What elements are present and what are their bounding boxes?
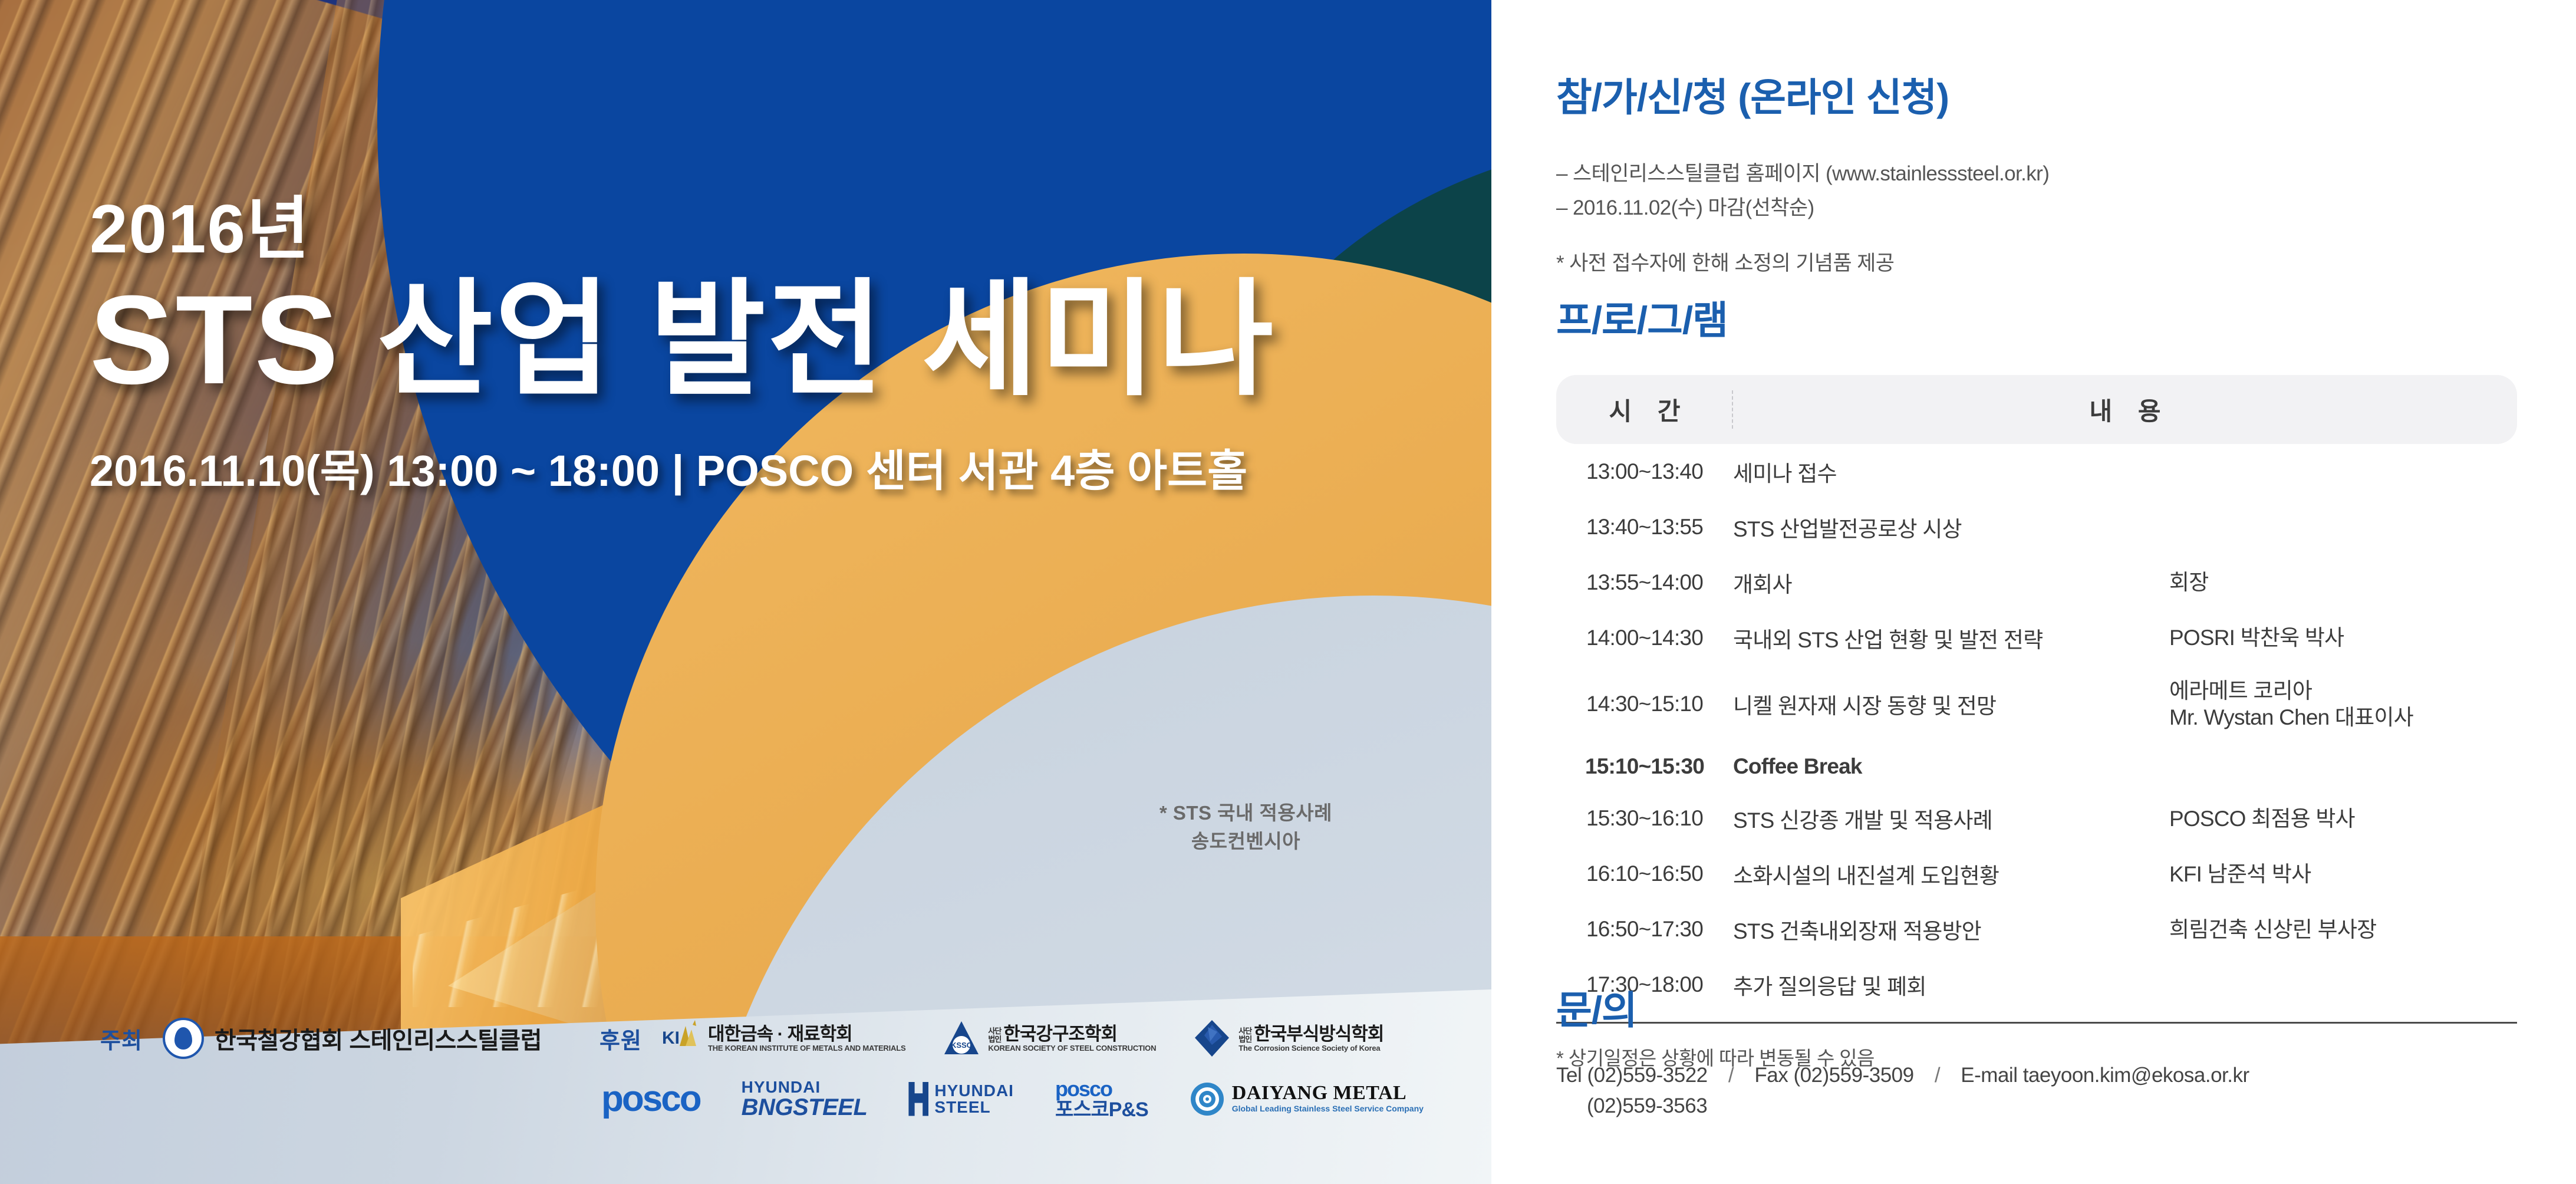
contact-fax-label: Fax bbox=[1754, 1064, 1788, 1087]
program-row-topic: 국내외 STS 산업 현황 및 발전 전략 bbox=[1733, 610, 2169, 666]
posco-pns-kr: 포스코P&S bbox=[1055, 1100, 1148, 1120]
program-row-speaker: 회장 bbox=[2169, 555, 2517, 610]
program-row-topic: Coffee Break bbox=[1733, 742, 2169, 791]
contact-separator-1: / bbox=[1713, 1064, 1749, 1087]
program-row-speaker: 에라메트 코리아Mr. Wystan Chen 대표이사 bbox=[2169, 666, 2517, 742]
kim-logo-icon: KI bbox=[662, 1019, 701, 1058]
program-table-head: 시 간 내 용 bbox=[1556, 375, 2517, 444]
program-row-topic: STS 산업발전공로상 시상 bbox=[1733, 499, 2169, 555]
poster-title-block: 2016년 STS 산업 발전 세미나 2016.11.10(목) 13:00 … bbox=[90, 195, 1445, 499]
cssk-text: 사단법인한국부식방식학회 The Corrosion Science Socie… bbox=[1238, 1024, 1383, 1053]
program-row: 13:40~13:55STS 산업발전공로상 시상 bbox=[1556, 499, 2517, 555]
svg-text:KSSC: KSSC bbox=[951, 1041, 973, 1050]
program-row-time: 15:30~16:10 bbox=[1556, 791, 1733, 846]
host-logo-group: 한국철강협회 스테인리스스틸클럽 bbox=[163, 1018, 542, 1059]
svg-text:KI: KI bbox=[662, 1028, 680, 1048]
left-visual-panel: 2016년 STS 산업 발전 세미나 2016.11.10(목) 13:00 … bbox=[0, 0, 1491, 1184]
registration-section: 참/가/신/청 (온라인 신청) – 스테인리스스틸클럽 홈페이지 (www.s… bbox=[1556, 66, 2049, 277]
program-row-time: 13:00~13:40 bbox=[1556, 444, 1733, 499]
company-logo-hyundai-steel: HYUNDAI STEEL bbox=[908, 1082, 1014, 1116]
program-row: 15:30~16:10STS 신강종 개발 및 적용사례POSCO 최점용 박사 bbox=[1556, 791, 2517, 846]
program-heading: 프/로/그/램 bbox=[1556, 289, 2517, 346]
program-col-time: 시 간 bbox=[1556, 375, 1733, 444]
program-row: 13:55~14:00개회사회장 bbox=[1556, 555, 2517, 610]
program-row-speaker bbox=[2169, 499, 2517, 555]
contact-tel-value: (02)559-3522 bbox=[1587, 1064, 1707, 1087]
program-row-time: 16:10~16:50 bbox=[1556, 846, 1733, 902]
cssk-logo-icon bbox=[1193, 1019, 1231, 1058]
program-row-time: 16:50~17:30 bbox=[1556, 902, 1733, 957]
program-row-topic: 니켈 원자재 시장 동향 및 전망 bbox=[1733, 666, 2169, 742]
contact-separator-2: / bbox=[1919, 1064, 1955, 1087]
program-row-topic: 세미나 접수 bbox=[1733, 444, 2169, 499]
company-logo-posco-pns: posco 포스코P&S bbox=[1055, 1078, 1148, 1120]
poster-year: 2016년 bbox=[90, 195, 1445, 263]
daiyang-tagline: Global Leading Stainless Steel Service C… bbox=[1232, 1103, 1424, 1114]
company-logo-posco: posco bbox=[601, 1078, 700, 1120]
kosa-seal-icon bbox=[163, 1018, 204, 1059]
hyundai-h-icon bbox=[908, 1082, 928, 1116]
society-logo-cssk: 사단법인한국부식방식학회 The Corrosion Science Socie… bbox=[1193, 1019, 1383, 1058]
photo-caption-line1: * STS 국내 적용사례 bbox=[1159, 799, 1332, 827]
company-logo-daiyang-metal: DAIYANG METAL Global Leading Stainless S… bbox=[1190, 1081, 1424, 1117]
sponsor-row-societies: 주최 한국철강협회 스테인리스스틸클럽 후원 KI 대한금속 · 재료학회 bbox=[100, 1018, 1420, 1059]
program-row-time: 14:00~14:30 bbox=[1556, 610, 1733, 666]
cssk-name-en: The Corrosion Science Society of Korea bbox=[1238, 1044, 1383, 1053]
hyundai-word: HYUNDAI bbox=[934, 1083, 1014, 1099]
program-header-row: 시 간 내 용 bbox=[1556, 375, 2517, 444]
contact-heading: 문/의 bbox=[1556, 979, 2249, 1035]
society-logo-kssc: KSSC 사단법인한국강구조학회 KOREAN SOCIETY OF STEEL… bbox=[942, 1019, 1156, 1058]
kssc-logo-icon: KSSC bbox=[942, 1019, 981, 1058]
daiyang-target-icon bbox=[1190, 1081, 1225, 1117]
registration-heading: 참/가/신/청 (온라인 신청) bbox=[1556, 66, 2049, 123]
program-row: 14:30~15:10니켈 원자재 시장 동향 및 전망에라메트 코리아Mr. … bbox=[1556, 666, 2517, 742]
company-logo-bng-steel: HYUNDAI BNGSTEEL bbox=[742, 1079, 868, 1119]
kim-name-kr: 대한금속 · 재료학회 bbox=[708, 1024, 905, 1044]
kssc-name-en: KOREAN SOCIETY OF STEEL CONSTRUCTION bbox=[988, 1044, 1156, 1053]
poster-subtitle-datetime-venue: 2016.11.10(목) 13:00 ~ 18:00 | POSCO 센터 서… bbox=[90, 436, 1445, 499]
program-row-speaker bbox=[2169, 742, 2517, 791]
program-row-speaker: POSRI 박찬욱 박사 bbox=[2169, 610, 2517, 666]
program-row-time: 13:40~13:55 bbox=[1556, 499, 1733, 555]
program-row-time: 14:30~15:10 bbox=[1556, 666, 1733, 742]
program-row-topic: 개회사 bbox=[1733, 555, 2169, 610]
contact-tel-secondary: (02)559-3563 bbox=[1587, 1094, 2249, 1118]
registration-item-deadline: – 2016.11.02(수) 마감(선착순) bbox=[1556, 191, 2049, 225]
program-table-body: 13:00~13:40세미나 접수13:40~13:55STS 산업발전공로상 … bbox=[1556, 444, 2517, 1012]
registration-item-website: – 스테인리스스틸클럽 홈페이지 (www.stainlesssteel.or.… bbox=[1556, 157, 2049, 191]
sponsor-row-companies: posco HYUNDAI BNGSTEEL HYUNDAI STEEL bbox=[601, 1078, 1465, 1120]
program-row-speaker: KFI 남준석 박사 bbox=[2169, 846, 2517, 902]
cssk-name-kr: 사단법인한국부식방식학회 bbox=[1238, 1024, 1383, 1044]
bng-hyundai-word: HYUNDAI bbox=[742, 1079, 868, 1096]
contact-email-label: E-mail bbox=[1961, 1064, 2017, 1087]
photo-caption-line2: 송도컨벤시아 bbox=[1159, 827, 1332, 856]
sponsor-area: 주최 한국철강협회 스테인리스스틸클럽 후원 KI 대한금속 · 재료학회 bbox=[0, 1007, 1491, 1184]
kim-text: 대한금속 · 재료학회 THE KOREAN INSTITUTE OF META… bbox=[708, 1024, 905, 1053]
program-row-time: 15:10~15:30 bbox=[1556, 742, 1733, 791]
contact-section: 문/의 Tel (02)559-3522 / Fax (02)559-3509 … bbox=[1556, 979, 2249, 1118]
kssc-name-kr-text: 한국강구조학회 bbox=[1003, 1024, 1117, 1044]
program-row-topic: STS 건축내외장재 적용방안 bbox=[1733, 902, 2169, 957]
society-logo-kim: KI 대한금속 · 재료학회 THE KOREAN INSTITUTE OF M… bbox=[662, 1019, 905, 1058]
program-row: 14:00~14:30국내외 STS 산업 현황 및 발전 전략POSRI 박찬… bbox=[1556, 610, 2517, 666]
program-row: 15:10~15:30Coffee Break bbox=[1556, 742, 2517, 791]
contact-line-primary: Tel (02)559-3522 / Fax (02)559-3509 / E-… bbox=[1556, 1064, 2249, 1087]
posco-wordmark: posco bbox=[601, 1078, 700, 1120]
program-row-speaker bbox=[2169, 444, 2517, 499]
program-col-content: 내 용 bbox=[1733, 375, 2517, 444]
contact-fax-value: (02)559-3509 bbox=[1793, 1064, 1913, 1087]
program-row-speaker: POSCO 최점용 박사 bbox=[2169, 791, 2517, 846]
right-content-panel: 참/가/신/청 (온라인 신청) – 스테인리스스틸클럽 홈페이지 (www.s… bbox=[1491, 0, 2576, 1184]
daiyang-wordmark: DAIYANG METAL bbox=[1232, 1083, 1424, 1103]
support-label: 후원 bbox=[599, 1022, 642, 1055]
registration-note: * 사전 접수자에 한해 소정의 기념품 제공 bbox=[1556, 246, 2049, 277]
registration-list: – 스테인리스스틸클럽 홈페이지 (www.stainlesssteel.or.… bbox=[1556, 157, 2049, 225]
kssc-name-kr: 사단법인한국강구조학회 bbox=[988, 1024, 1156, 1044]
bng-steel-word: BNGSTEEL bbox=[742, 1096, 868, 1119]
program-section: 프/로/그/램 시 간 내 용 13:00~13:40세미나 접수13:40~1… bbox=[1556, 289, 2517, 1071]
program-row-topic: STS 신강종 개발 및 적용사례 bbox=[1733, 791, 2169, 846]
program-row-time: 13:55~14:00 bbox=[1556, 555, 1733, 610]
contact-email-value[interactable]: taeyoon.kim@ekosa.or.kr bbox=[2023, 1064, 2249, 1087]
hyundai-steel-word: STEEL bbox=[934, 1099, 1014, 1116]
program-row: 16:10~16:50소화시설의 내진설계 도입현황KFI 남준석 박사 bbox=[1556, 846, 2517, 902]
photo-caption: * STS 국내 적용사례 송도컨벤시아 bbox=[1159, 799, 1332, 856]
contact-tel-label: Tel bbox=[1556, 1064, 1582, 1087]
program-row-topic: 소화시설의 내진설계 도입현황 bbox=[1733, 846, 2169, 902]
program-row: 13:00~13:40세미나 접수 bbox=[1556, 444, 2517, 499]
seminar-poster: 2016년 STS 산업 발전 세미나 2016.11.10(목) 13:00 … bbox=[0, 0, 2576, 1184]
host-label: 주최 bbox=[100, 1022, 143, 1055]
kssc-text: 사단법인한국강구조학회 KOREAN SOCIETY OF STEEL CONS… bbox=[988, 1024, 1156, 1053]
program-row: 16:50~17:30STS 건축내외장재 적용방안희림건축 신상린 부사장 bbox=[1556, 902, 2517, 957]
kim-name-en: THE KOREAN INSTITUTE OF METALS AND MATER… bbox=[708, 1044, 905, 1053]
poster-main-title: STS 산업 발전 세미나 bbox=[90, 274, 1445, 407]
program-table: 시 간 내 용 13:00~13:40세미나 접수13:40~13:55STS … bbox=[1556, 375, 2517, 1012]
cssk-name-kr-text: 한국부식방식학회 bbox=[1254, 1024, 1383, 1044]
program-row-speaker: 희림건축 신상린 부사장 bbox=[2169, 902, 2517, 957]
host-name: 한국철강협회 스테인리스스틸클럽 bbox=[215, 1021, 542, 1055]
posco-pns-wordmark: posco bbox=[1055, 1078, 1148, 1100]
